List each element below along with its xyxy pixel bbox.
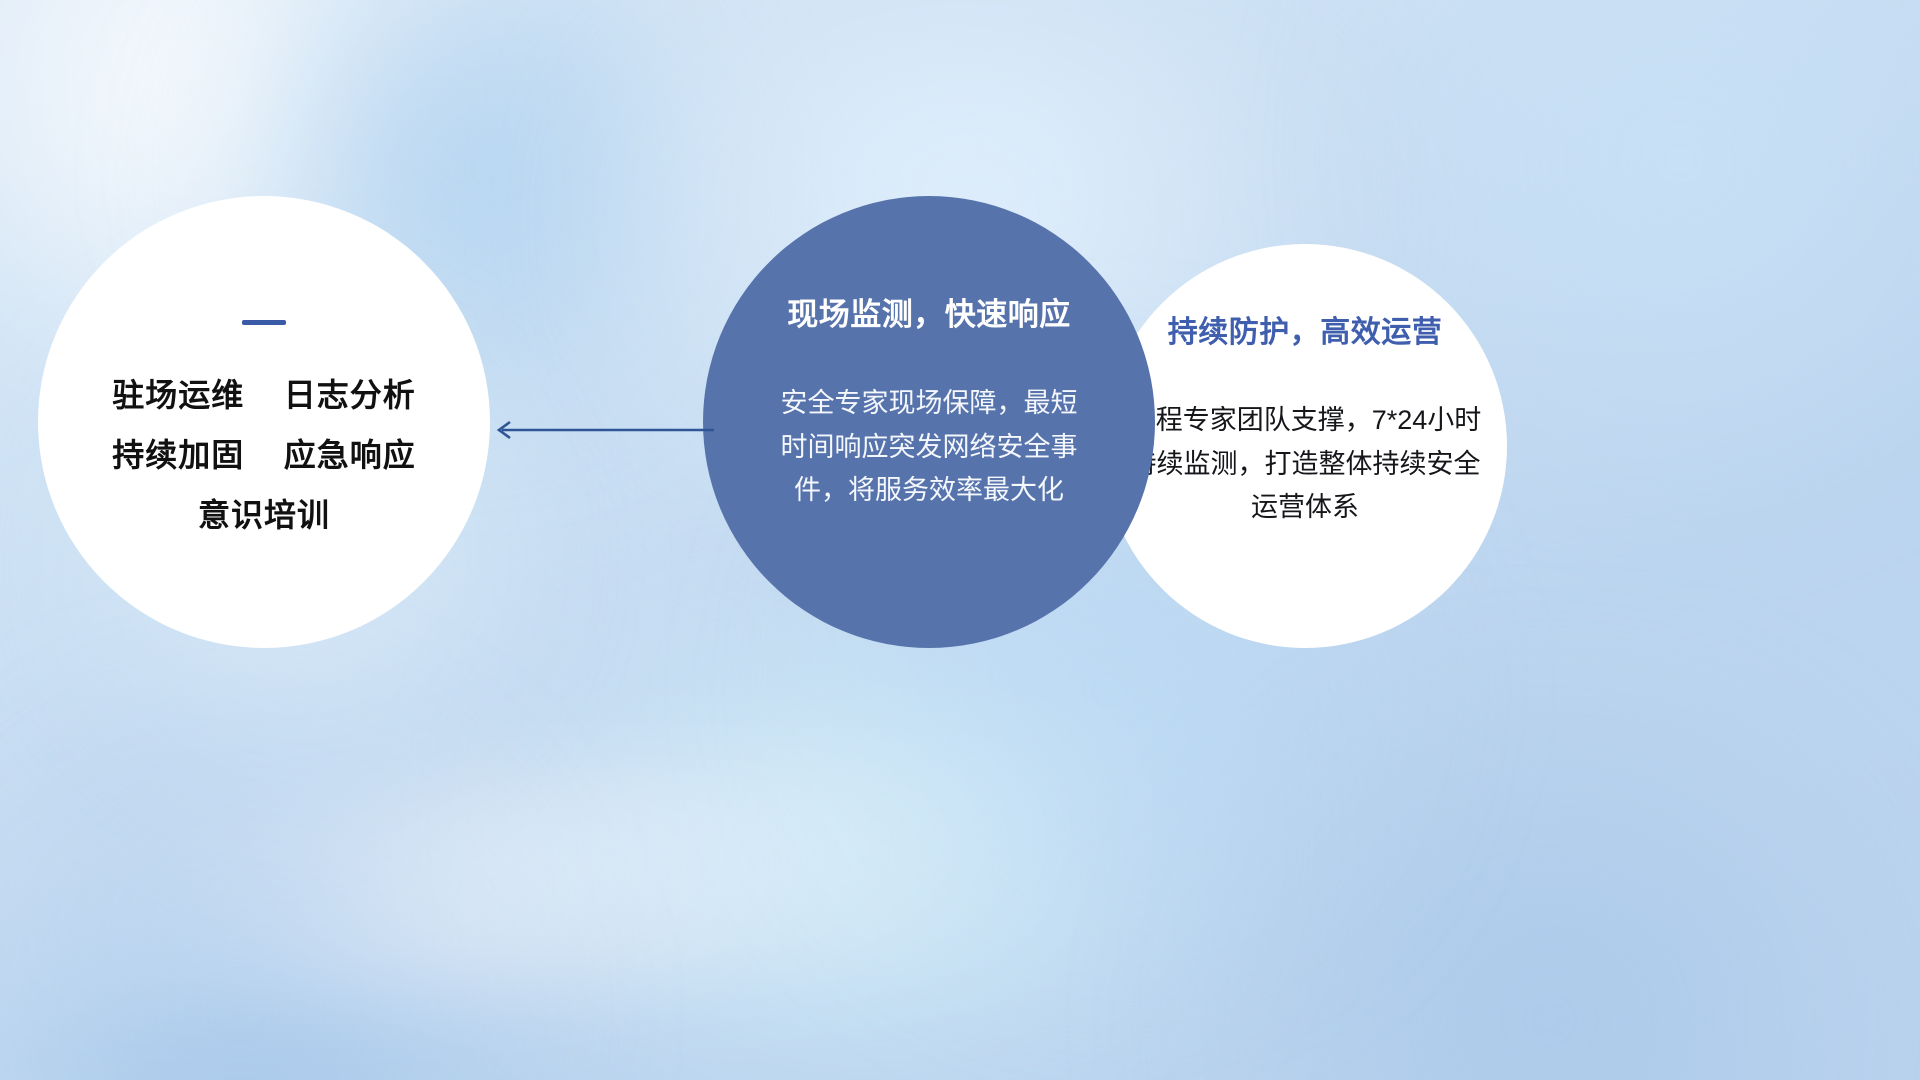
onsite-monitoring-heading: 现场监测，快速响应 (787, 289, 1071, 334)
continuous-protection-circle[interactable]: 持续防护，高效运营 远程专家团队支撑，7*24小时持续监测，打造整体持续安全运营… (1103, 244, 1507, 648)
divider-dash (242, 320, 286, 325)
capability-line: 持续加固 应急响应 (38, 425, 490, 485)
capability-line: 驻场运维 日志分析 (38, 365, 490, 425)
continuous-protection-body: 远程专家团队支撑，7*24小时持续监测，打造整体持续安全运营体系 (1117, 399, 1493, 530)
flow-arrow (486, 418, 716, 442)
service-capability-circle[interactable]: 驻场运维 日志分析 持续加固 应急响应 意识培训 (38, 196, 490, 648)
capability-line: 意识培训 (38, 485, 490, 545)
onsite-monitoring-body: 安全专家现场保障，最短时间响应突发网络安全事件，将服务效率最大化 (770, 382, 1088, 513)
arrow-left-icon (486, 418, 716, 442)
onsite-monitoring-circle[interactable]: 现场监测，快速响应 安全专家现场保障，最短时间响应突发网络安全事件，将服务效率最… (703, 196, 1155, 648)
capability-list: 驻场运维 日志分析 持续加固 应急响应 意识培训 (38, 365, 490, 545)
continuous-protection-heading: 持续防护，高效运营 (1168, 307, 1443, 351)
